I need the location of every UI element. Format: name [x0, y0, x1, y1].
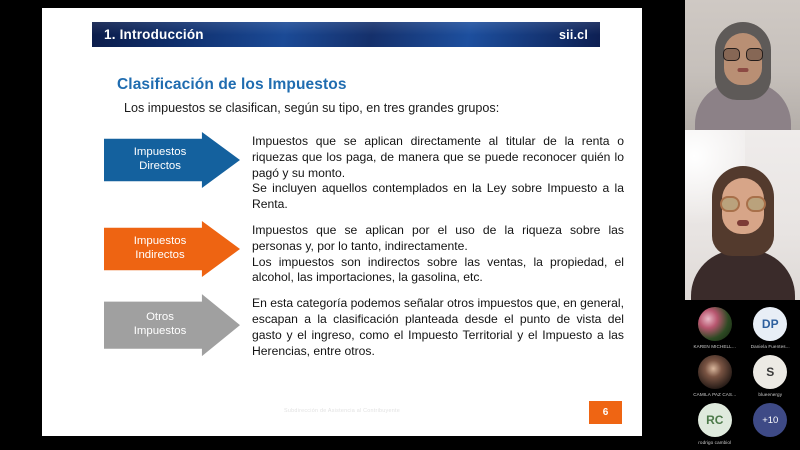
- person-mouth: [737, 220, 749, 226]
- avatar[interactable]: [698, 307, 732, 341]
- classification-row: Impuestos Indirectos Impuestos que se ap…: [104, 221, 624, 286]
- arrow-shape-other-taxes: Otros Impuestos: [104, 294, 240, 356]
- participant-tile[interactable]: RC rodrigo cambiol: [687, 400, 743, 448]
- arrow-shape-indirect-taxes: Impuestos Indirectos: [104, 221, 240, 277]
- arrow-wrapper: Impuestos Directos: [104, 132, 240, 188]
- slide-title: Clasificación de los Impuestos: [117, 76, 347, 94]
- video-tile-speaker-1[interactable]: [685, 0, 800, 130]
- glasses-icon: [723, 48, 763, 61]
- participant-avatar-grid: KAREN MICHELL... DP Daniela Fuentes... C…: [685, 300, 800, 450]
- arrow-wrapper: Otros Impuestos: [104, 294, 240, 356]
- participant-name: CAMILA PAZ CAS...: [689, 392, 741, 397]
- sii-brand-label: sii.cl: [559, 28, 588, 42]
- overflow-participants-badge[interactable]: +10: [753, 403, 787, 437]
- avatar[interactable]: [698, 355, 732, 389]
- avatar[interactable]: DP: [753, 307, 787, 341]
- slide-page-number-badge: 6: [589, 401, 622, 424]
- arrow-label: Impuestos Indirectos: [134, 235, 211, 263]
- participant-tile[interactable]: KAREN MICHELL...: [687, 304, 743, 352]
- classification-row: Otros Impuestos En esta categoría podemo…: [104, 294, 624, 359]
- video-tile-speaker-2[interactable]: [685, 130, 800, 300]
- participant-rail[interactable]: KAREN MICHELL... DP Daniela Fuentes... C…: [685, 0, 800, 450]
- video-conference-window: 1. Introducción sii.cl Clasificación de …: [0, 0, 800, 450]
- participant-name: blueenergy: [744, 392, 796, 397]
- person-mouth: [737, 68, 748, 72]
- letterbox-top: [0, 0, 685, 8]
- avatar[interactable]: RC: [698, 403, 732, 437]
- arrow-label: Impuestos Directos: [134, 146, 211, 174]
- participant-name: rodrigo cambiol: [689, 440, 741, 445]
- person-torso: [691, 250, 795, 300]
- classification-rows: Impuestos Directos Impuestos que se apli…: [104, 132, 624, 367]
- slide-subtitle: Los impuestos se clasifican, según su ti…: [124, 101, 499, 115]
- participant-name: KAREN MICHELL...: [689, 344, 741, 349]
- participant-tile[interactable]: DP Daniela Fuentes...: [743, 304, 799, 352]
- presentation-slide: 1. Introducción sii.cl Clasificación de …: [42, 8, 642, 436]
- classification-row: Impuestos Directos Impuestos que se apli…: [104, 132, 624, 213]
- avatar[interactable]: S: [753, 355, 787, 389]
- slide-section-title: 1. Introducción: [104, 27, 204, 42]
- row-description: Impuestos que se aplican directamente al…: [240, 132, 624, 213]
- participant-name: Daniela Fuentes...: [744, 344, 796, 349]
- arrow-label: Otros Impuestos: [134, 311, 211, 339]
- webcam-image-speaker-2: [685, 130, 800, 300]
- participant-tile[interactable]: CAMILA PAZ CAS...: [687, 352, 743, 400]
- arrow-shape-direct-taxes: Impuestos Directos: [104, 132, 240, 188]
- arrow-wrapper: Impuestos Indirectos: [104, 221, 240, 277]
- letterbox-bottom: [0, 436, 685, 450]
- glasses-icon: [720, 196, 766, 212]
- row-description: En esta categoría podemos señalar otros …: [240, 294, 624, 359]
- screen-share-area[interactable]: 1. Introducción sii.cl Clasificación de …: [0, 0, 685, 450]
- participant-tile[interactable]: S blueenergy: [743, 352, 799, 400]
- slide-footnote: Subdirección de Asistencia al Contribuye…: [42, 408, 642, 414]
- webcam-image-speaker-1: [685, 0, 800, 130]
- participant-tile-overflow[interactable]: +10: [743, 400, 799, 448]
- slide-header-banner: 1. Introducción sii.cl: [92, 22, 600, 47]
- row-description: Impuestos que se aplican por el uso de l…: [240, 221, 624, 286]
